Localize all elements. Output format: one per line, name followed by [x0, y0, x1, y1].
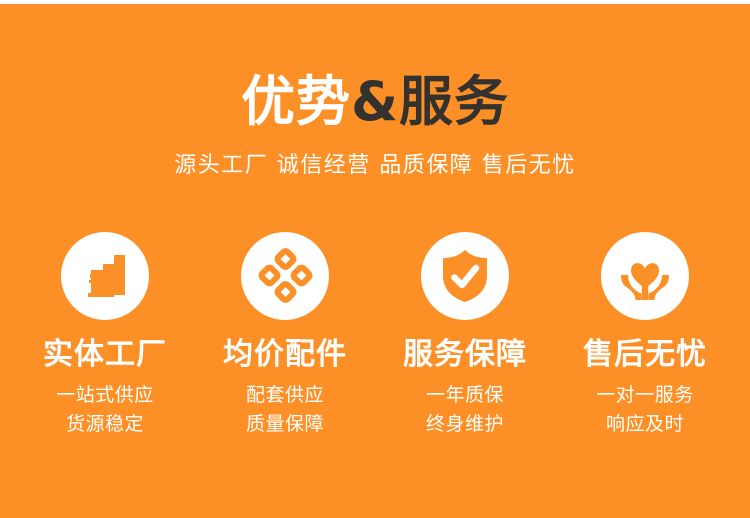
feature-desc-line-2: 货源稳定: [56, 410, 154, 439]
feature-desc-line-2: 终身维护: [426, 410, 504, 439]
shield-check-icon: [421, 232, 509, 320]
feature-desc-line-2: 响应及时: [596, 410, 694, 439]
title-secondary-text: &服务: [351, 70, 509, 133]
top-white-strip: [0, 0, 750, 4]
heart-hands-icon: [601, 232, 689, 320]
feature-list: 实体工厂 一站式供应 货源稳定 均价配件 配套供应: [0, 232, 750, 438]
page-subtitle: 源头工厂 诚信经营 品质保障 售后无忧: [0, 147, 750, 179]
feature-desc-line-2: 质量保障: [246, 410, 324, 439]
four-diamonds-parts-icon: [241, 232, 329, 320]
feature-title: 均价配件: [223, 338, 347, 371]
title-highlight-text: 优势: [241, 70, 351, 133]
feature-title: 实体工厂: [43, 338, 167, 371]
feature-desc-line-1: 配套供应: [246, 381, 324, 410]
promo-banner: 优势&服务 源头工厂 诚信经营 品质保障 售后无忧: [0, 0, 750, 518]
page-title: 优势&服务: [0, 74, 750, 131]
feature-item-parts: 均价配件 配套供应 质量保障: [196, 232, 374, 438]
feature-description: 一站式供应 货源稳定: [56, 381, 154, 438]
feature-item-service-guarantee: 服务保障 一年质保 终身维护: [376, 232, 554, 438]
heading-block: 优势&服务 源头工厂 诚信经营 品质保障 售后无忧: [0, 74, 750, 179]
feature-title: 售后无忧: [583, 338, 707, 371]
feature-desc-line-1: 一对一服务: [596, 381, 694, 410]
feature-desc-line-1: 一年质保: [426, 381, 504, 410]
feature-description: 一年质保 终身维护: [426, 381, 504, 438]
feature-description: 一对一服务 响应及时: [596, 381, 694, 438]
feature-title: 服务保障: [403, 338, 527, 371]
feature-item-after-sales: 售后无忧 一对一服务 响应及时: [556, 232, 734, 438]
factory-icon: [61, 232, 149, 320]
feature-description: 配套供应 质量保障: [246, 381, 324, 438]
feature-item-factory: 实体工厂 一站式供应 货源稳定: [16, 232, 194, 438]
feature-desc-line-1: 一站式供应: [56, 381, 154, 410]
